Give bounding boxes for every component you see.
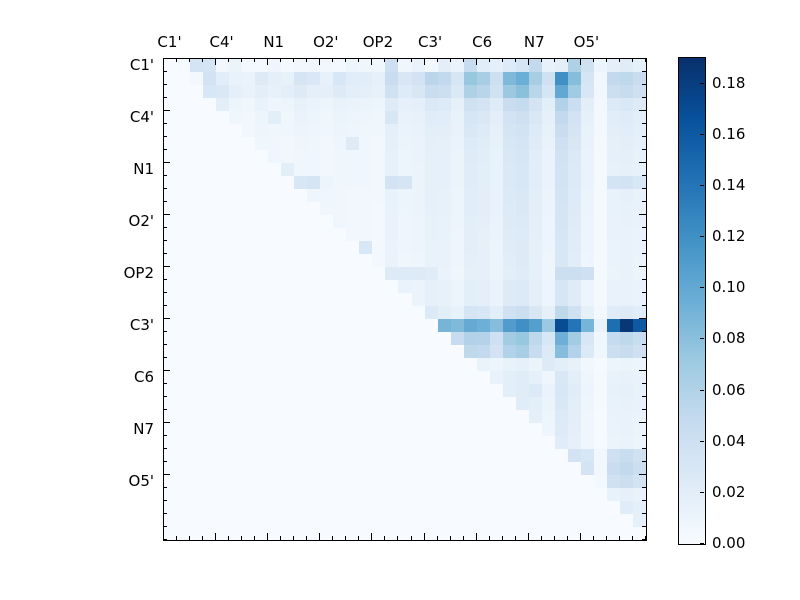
heatmap-cell <box>190 189 203 202</box>
heatmap-cell <box>359 345 372 358</box>
heatmap-cell <box>242 111 255 124</box>
heatmap-cell <box>333 150 346 163</box>
heatmap-cell <box>464 475 477 488</box>
heatmap-cell <box>607 163 620 176</box>
heatmap-cell <box>620 293 633 306</box>
heatmap-cell <box>490 514 503 527</box>
heatmap-cell <box>529 371 542 384</box>
heatmap-cell <box>555 150 568 163</box>
heatmap-cell <box>294 280 307 293</box>
heatmap-cell <box>320 449 333 462</box>
heatmap-cell <box>190 254 203 267</box>
heatmap-cell <box>177 410 190 423</box>
heatmap-cell <box>451 293 464 306</box>
heatmap-cell <box>255 345 268 358</box>
heatmap-cell <box>451 124 464 137</box>
heatmap-cell <box>320 98 333 111</box>
heatmap-cell <box>581 254 594 267</box>
heatmap-cell <box>464 488 477 501</box>
heatmap-cell <box>242 319 255 332</box>
heatmap-cell <box>294 202 307 215</box>
heatmap-cell <box>190 176 203 189</box>
heatmap-cell <box>581 176 594 189</box>
heatmap-cell <box>268 72 281 85</box>
heatmap-cell <box>346 488 359 501</box>
heatmap-cell <box>568 527 581 540</box>
heatmap-cell <box>542 488 555 501</box>
heatmap-cell <box>490 280 503 293</box>
heatmap-cell <box>412 527 425 540</box>
heatmap-cell <box>333 410 346 423</box>
heatmap-cell <box>620 436 633 449</box>
heatmap-cell <box>359 293 372 306</box>
heatmap-cell <box>425 202 438 215</box>
heatmap-cell <box>425 527 438 540</box>
heatmap-cell <box>620 371 633 384</box>
heatmap-cell <box>620 254 633 267</box>
heatmap-cell <box>451 371 464 384</box>
heatmap-cell <box>633 280 646 293</box>
heatmap-cell <box>177 527 190 540</box>
heatmap-cell <box>412 293 425 306</box>
heatmap-cell <box>203 462 216 475</box>
heatmap-cell <box>438 280 451 293</box>
heatmap-cell <box>190 527 203 540</box>
heatmap-cell <box>164 449 177 462</box>
heatmap-cell <box>555 176 568 189</box>
heatmap-cell <box>568 72 581 85</box>
heatmap-cell <box>216 267 229 280</box>
heatmap-cell <box>542 228 555 241</box>
heatmap-cell <box>229 124 242 137</box>
heatmap-cell <box>555 228 568 241</box>
heatmap-cell <box>412 423 425 436</box>
heatmap-cell <box>412 150 425 163</box>
heatmap-cell <box>216 345 229 358</box>
heatmap-cell <box>281 176 294 189</box>
heatmap-cell <box>438 475 451 488</box>
heatmap-cell <box>164 436 177 449</box>
heatmap-cell <box>359 124 372 137</box>
heatmap-cell <box>529 215 542 228</box>
heatmap-cell <box>255 267 268 280</box>
heatmap-cell <box>451 449 464 462</box>
heatmap-cell <box>529 345 542 358</box>
heatmap-cell <box>216 319 229 332</box>
colorbar[interactable] <box>678 57 706 545</box>
heatmap-cell <box>242 124 255 137</box>
heatmap-cell <box>229 241 242 254</box>
heatmap-cell <box>412 345 425 358</box>
heatmap-cell <box>503 293 516 306</box>
heatmap-cell <box>268 254 281 267</box>
heatmap-cell <box>398 358 411 371</box>
heatmap-cell <box>190 475 203 488</box>
heatmap-cell <box>307 98 320 111</box>
heatmap-cell <box>581 423 594 436</box>
heatmap-cell <box>307 371 320 384</box>
heatmap-cell <box>229 514 242 527</box>
heatmap-cell <box>529 124 542 137</box>
heatmap-cell <box>385 163 398 176</box>
heatmap-cell <box>425 228 438 241</box>
heatmap-cell <box>607 59 620 72</box>
heatmap-cell <box>542 202 555 215</box>
heatmap-cell <box>529 241 542 254</box>
heatmap-cell <box>229 267 242 280</box>
heatmap-cell <box>242 163 255 176</box>
heatmap-cell <box>359 254 372 267</box>
heatmap-cell <box>229 306 242 319</box>
heatmap-cell <box>464 462 477 475</box>
heatmap-cell <box>594 163 607 176</box>
heatmap-cell <box>581 189 594 202</box>
heatmap-cell <box>229 111 242 124</box>
heatmap-cell <box>177 150 190 163</box>
heatmap-cell <box>477 358 490 371</box>
heatmap-cell <box>412 163 425 176</box>
y-tick-label: O5' <box>129 472 154 490</box>
heatmap-cell <box>242 267 255 280</box>
heatmap-cell <box>333 345 346 358</box>
heatmap-cell <box>320 72 333 85</box>
heatmap-cell <box>490 98 503 111</box>
heatmap-cell <box>568 267 581 280</box>
heatmap-cell <box>594 410 607 423</box>
heatmap-cell <box>438 202 451 215</box>
heatmap-cell <box>177 358 190 371</box>
heatmap-cell <box>581 280 594 293</box>
heatmap-cell <box>529 202 542 215</box>
heatmap-cell <box>490 332 503 345</box>
heatmap-cell <box>412 501 425 514</box>
heatmap-cell <box>568 202 581 215</box>
heatmap-cell <box>438 189 451 202</box>
heatmap-cell <box>164 176 177 189</box>
heatmap-cell <box>229 423 242 436</box>
heatmap-cell <box>255 397 268 410</box>
heatmap-cell <box>372 124 385 137</box>
heatmap-cell <box>216 202 229 215</box>
heatmap-cell <box>555 514 568 527</box>
heatmap-cell <box>607 176 620 189</box>
heatmap-cell <box>490 293 503 306</box>
heatmap-cell <box>477 241 490 254</box>
heatmap-cell <box>529 488 542 501</box>
heatmap-cell <box>359 163 372 176</box>
colorbar-tick-label: 0.16 <box>712 125 745 143</box>
heatmap-cell <box>268 228 281 241</box>
heatmap-cell <box>229 85 242 98</box>
heatmap-cell <box>268 293 281 306</box>
heatmap-cell <box>555 98 568 111</box>
heatmap-cell <box>281 462 294 475</box>
heatmap-axes[interactable] <box>163 58 647 541</box>
heatmap-cell <box>320 410 333 423</box>
heatmap-cell <box>359 72 372 85</box>
heatmap-cell <box>242 150 255 163</box>
heatmap-cell <box>307 228 320 241</box>
heatmap-cell <box>516 371 529 384</box>
x-tick-label: OP2 <box>363 33 393 51</box>
heatmap-cell <box>464 384 477 397</box>
heatmap-cell <box>503 345 516 358</box>
heatmap-cell <box>542 410 555 423</box>
heatmap-cell <box>255 111 268 124</box>
heatmap-cell <box>633 449 646 462</box>
heatmap-cell <box>359 98 372 111</box>
heatmap-cell <box>294 319 307 332</box>
heatmap-cell <box>385 85 398 98</box>
heatmap-cell <box>438 449 451 462</box>
heatmap-cell <box>607 202 620 215</box>
heatmap-cell <box>268 150 281 163</box>
heatmap-cell <box>477 449 490 462</box>
heatmap-cell <box>633 228 646 241</box>
heatmap-cell <box>490 215 503 228</box>
heatmap-cell <box>438 488 451 501</box>
heatmap-cell <box>581 475 594 488</box>
heatmap-cell <box>281 293 294 306</box>
heatmap-cell <box>229 202 242 215</box>
heatmap-cell <box>581 228 594 241</box>
heatmap-cell <box>255 241 268 254</box>
heatmap-cell <box>555 527 568 540</box>
heatmap-cell <box>372 202 385 215</box>
heatmap-cell <box>359 501 372 514</box>
heatmap-cell <box>529 85 542 98</box>
heatmap-cell <box>190 514 203 527</box>
heatmap-cell <box>620 228 633 241</box>
heatmap-cell <box>451 150 464 163</box>
heatmap-cell <box>542 176 555 189</box>
heatmap-cell <box>516 241 529 254</box>
heatmap-cell <box>320 280 333 293</box>
heatmap-cell <box>398 332 411 345</box>
heatmap-cell <box>164 410 177 423</box>
heatmap-cell <box>529 436 542 449</box>
heatmap-cell <box>294 449 307 462</box>
heatmap-cell <box>203 501 216 514</box>
heatmap-cell <box>529 501 542 514</box>
heatmap-cell <box>555 124 568 137</box>
heatmap-cell <box>529 137 542 150</box>
heatmap-cell <box>320 241 333 254</box>
heatmap-cell <box>438 319 451 332</box>
heatmap-cell <box>385 462 398 475</box>
heatmap-cell <box>555 111 568 124</box>
heatmap-cell <box>294 475 307 488</box>
heatmap-cell <box>529 475 542 488</box>
heatmap-cell <box>477 137 490 150</box>
heatmap-cell <box>503 449 516 462</box>
heatmap-cell <box>633 241 646 254</box>
heatmap-cell <box>438 501 451 514</box>
heatmap-cell <box>490 111 503 124</box>
heatmap-cell <box>477 319 490 332</box>
heatmap-cell <box>320 124 333 137</box>
heatmap-cell <box>438 410 451 423</box>
heatmap-cell <box>451 280 464 293</box>
heatmap-cell <box>216 254 229 267</box>
heatmap-cell <box>594 267 607 280</box>
heatmap-cell <box>294 98 307 111</box>
heatmap-cell <box>229 280 242 293</box>
heatmap-cell <box>490 267 503 280</box>
heatmap-cell <box>555 384 568 397</box>
heatmap-cell <box>307 280 320 293</box>
heatmap-cell <box>177 267 190 280</box>
heatmap-cell <box>242 59 255 72</box>
heatmap-cell <box>633 59 646 72</box>
heatmap-cell <box>203 449 216 462</box>
heatmap-cell <box>333 527 346 540</box>
heatmap-cell <box>372 267 385 280</box>
heatmap-cell <box>268 475 281 488</box>
heatmap-cell <box>633 137 646 150</box>
heatmap-cell <box>568 410 581 423</box>
heatmap-cell <box>372 163 385 176</box>
heatmap-cell <box>607 280 620 293</box>
heatmap-cell <box>438 397 451 410</box>
heatmap-cell <box>385 59 398 72</box>
heatmap-cell <box>555 280 568 293</box>
heatmap-cell <box>333 228 346 241</box>
colorbar-tick-label: 0.00 <box>712 534 745 552</box>
heatmap-cell <box>281 358 294 371</box>
heatmap-cell <box>529 189 542 202</box>
heatmap-cell <box>542 189 555 202</box>
heatmap-cell <box>490 449 503 462</box>
heatmap-cell <box>268 449 281 462</box>
heatmap-cell <box>229 436 242 449</box>
heatmap-cell <box>203 72 216 85</box>
x-tick-label: N7 <box>524 33 545 51</box>
heatmap-cell <box>216 410 229 423</box>
heatmap-cell <box>529 267 542 280</box>
heatmap-cell <box>620 410 633 423</box>
heatmap-cell <box>516 410 529 423</box>
heatmap-cell <box>568 449 581 462</box>
heatmap-cell <box>490 150 503 163</box>
heatmap-cell <box>268 280 281 293</box>
heatmap-cell <box>607 293 620 306</box>
heatmap-cell <box>255 137 268 150</box>
heatmap-cell <box>555 410 568 423</box>
heatmap-cell <box>255 189 268 202</box>
heatmap-cell <box>581 137 594 150</box>
heatmap-cell <box>516 59 529 72</box>
heatmap-cell <box>164 189 177 202</box>
heatmap-cell <box>385 254 398 267</box>
heatmap-cell <box>177 72 190 85</box>
heatmap-cell <box>620 267 633 280</box>
heatmap-cell <box>477 345 490 358</box>
heatmap-cell <box>164 267 177 280</box>
heatmap-cell <box>516 202 529 215</box>
heatmap-cell <box>320 254 333 267</box>
heatmap-cell <box>451 241 464 254</box>
heatmap-cell <box>372 514 385 527</box>
heatmap-cell <box>203 384 216 397</box>
heatmap-cell <box>333 488 346 501</box>
heatmap-cell <box>385 176 398 189</box>
heatmap-cell <box>242 228 255 241</box>
heatmap-cell <box>268 124 281 137</box>
heatmap-cell <box>216 501 229 514</box>
heatmap-cell <box>490 371 503 384</box>
heatmap-cell <box>594 228 607 241</box>
heatmap-cell <box>385 150 398 163</box>
heatmap-cell <box>190 319 203 332</box>
heatmap-cell <box>633 293 646 306</box>
heatmap-cell <box>333 384 346 397</box>
heatmap-cell <box>177 514 190 527</box>
heatmap-cell <box>568 111 581 124</box>
heatmap-cell <box>398 111 411 124</box>
heatmap-cell <box>425 332 438 345</box>
heatmap-cell <box>581 462 594 475</box>
heatmap-cell <box>333 501 346 514</box>
heatmap-cell <box>555 306 568 319</box>
heatmap-cell <box>346 384 359 397</box>
heatmap-cell <box>203 111 216 124</box>
heatmap-cell <box>529 397 542 410</box>
heatmap-cell <box>294 501 307 514</box>
heatmap-cell <box>542 449 555 462</box>
heatmap-cell <box>372 176 385 189</box>
heatmap-cell <box>229 254 242 267</box>
heatmap-cell <box>307 397 320 410</box>
heatmap-cell <box>320 514 333 527</box>
heatmap-cell <box>177 111 190 124</box>
heatmap-cell <box>385 514 398 527</box>
heatmap-cell <box>164 202 177 215</box>
heatmap-cell <box>594 176 607 189</box>
heatmap-cell <box>372 358 385 371</box>
heatmap-cell <box>242 332 255 345</box>
heatmap-cell <box>542 267 555 280</box>
heatmap-cell <box>359 423 372 436</box>
heatmap-cell <box>242 410 255 423</box>
heatmap-cell <box>203 241 216 254</box>
heatmap-cell <box>346 514 359 527</box>
heatmap-cell <box>268 137 281 150</box>
heatmap-cell <box>633 436 646 449</box>
heatmap-cell <box>620 449 633 462</box>
heatmap-cell <box>294 488 307 501</box>
heatmap-cell <box>398 280 411 293</box>
heatmap-cell <box>190 98 203 111</box>
heatmap-cell <box>451 254 464 267</box>
heatmap-cell <box>503 176 516 189</box>
heatmap-cell <box>425 397 438 410</box>
heatmap-cell <box>412 384 425 397</box>
heatmap-cell <box>477 384 490 397</box>
heatmap-cell <box>555 163 568 176</box>
heatmap-cell <box>516 254 529 267</box>
heatmap-cell <box>594 462 607 475</box>
heatmap-cell <box>451 189 464 202</box>
heatmap-cell <box>177 137 190 150</box>
heatmap-cell <box>542 358 555 371</box>
heatmap-cell <box>477 527 490 540</box>
heatmap-cell <box>294 72 307 85</box>
heatmap-cell <box>229 345 242 358</box>
heatmap-cell <box>190 59 203 72</box>
heatmap-cell <box>255 280 268 293</box>
heatmap-cell <box>464 202 477 215</box>
